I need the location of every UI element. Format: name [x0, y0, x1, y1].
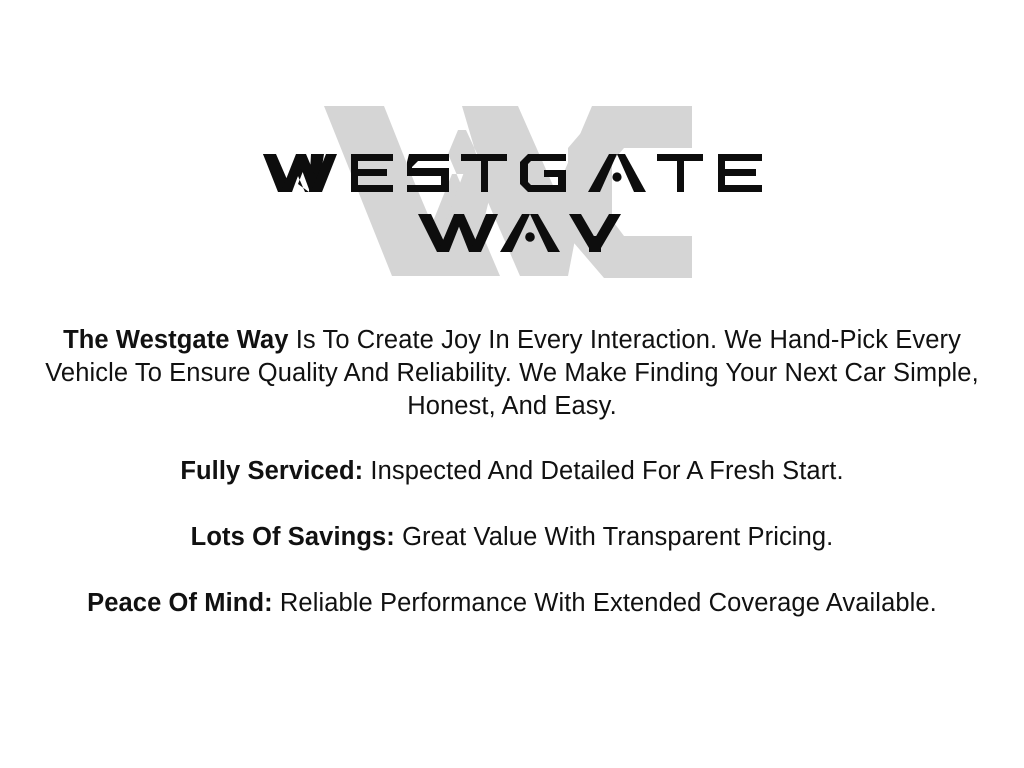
body-copy: The Westgate Way Is To Create Joy In Eve…: [0, 324, 1024, 620]
tenet-label-lots-of-savings: Lots Of Savings:: [191, 523, 395, 551]
brand-wordmark: [0, 96, 1024, 286]
tenet-lots-of-savings: Lots Of Savings: Great Value With Transp…: [0, 521, 1024, 554]
brand-logo-block: [0, 96, 1024, 286]
spacer: [0, 423, 1024, 455]
wordmark-line-1: [263, 154, 762, 192]
tenet-text-lots-of-savings: Great Value With Transparent Pricing.: [395, 523, 833, 551]
spacer: [0, 488, 1024, 521]
tenet-fully-serviced: Fully Serviced: Inspected And Detailed F…: [0, 455, 1024, 488]
intro-lead: The Westgate Way: [63, 326, 288, 354]
wordmark-line-2: [418, 214, 621, 252]
slide-canvas: The Westgate Way Is To Create Joy In Eve…: [0, 0, 1024, 768]
spacer: [0, 554, 1024, 587]
intro-paragraph: The Westgate Way Is To Create Joy In Eve…: [0, 324, 1024, 423]
tenet-text-fully-serviced: Inspected And Detailed For A Fresh Start…: [363, 457, 843, 485]
tenet-text-peace-of-mind: Reliable Performance With Extended Cover…: [273, 589, 937, 617]
tenet-label-fully-serviced: Fully Serviced:: [180, 457, 363, 485]
tenet-peace-of-mind: Peace Of Mind: Reliable Performance With…: [0, 587, 1024, 620]
tenet-label-peace-of-mind: Peace Of Mind:: [87, 589, 273, 617]
